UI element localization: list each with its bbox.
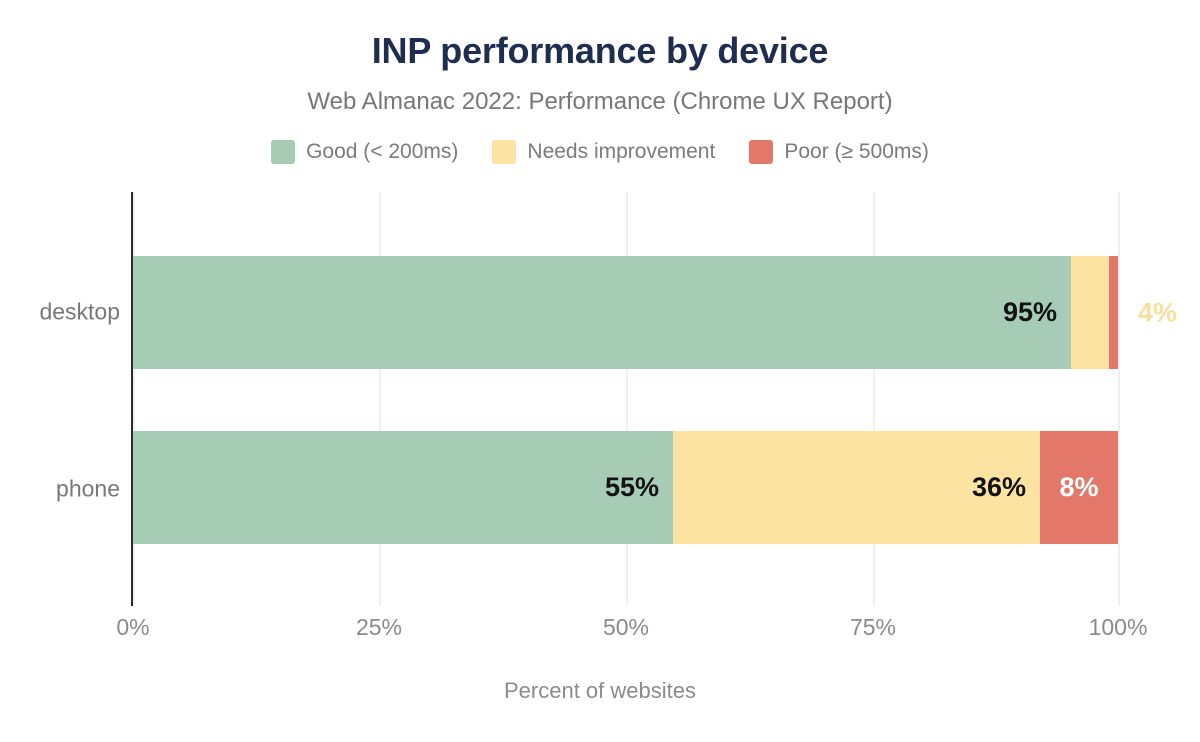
bar-label-desktop-needs-improvement: 4% xyxy=(1138,297,1177,328)
bar-segment-desktop-poor[interactable] xyxy=(1109,256,1118,369)
bar-segment-phone-good[interactable]: 55% xyxy=(133,431,673,544)
chart-subtitle: Web Almanac 2022: Performance (Chrome UX… xyxy=(0,88,1200,116)
bar-label-phone-poor: 8% xyxy=(1059,472,1098,503)
legend-label-poor: Poor (≥ 500ms) xyxy=(784,140,929,164)
chart-title: INP performance by device xyxy=(0,30,1200,72)
bar-label-phone-needs-improvement: 36% xyxy=(972,472,1040,503)
y-tick-label-desktop: desktop xyxy=(0,299,120,326)
legend-swatch-needs-improvement-icon xyxy=(492,140,516,164)
legend-item-needs-improvement[interactable]: Needs improvement xyxy=(492,140,715,164)
x-tick-label-100: 100% xyxy=(1089,614,1148,641)
x-tick-label-0: 0% xyxy=(116,614,149,641)
gridline-100 xyxy=(1118,192,1120,606)
bar-segment-desktop-good[interactable]: 95% xyxy=(133,256,1071,369)
bar-segment-phone-needs-improvement[interactable]: 36% xyxy=(673,431,1040,544)
legend-item-poor[interactable]: Poor (≥ 500ms) xyxy=(749,140,929,164)
x-tick-label-50: 50% xyxy=(603,614,649,641)
bar-label-desktop-good: 95% xyxy=(1003,297,1071,328)
y-tick-label-phone: phone xyxy=(0,476,120,503)
legend-label-needs-improvement: Needs improvement xyxy=(527,140,715,164)
legend-item-good[interactable]: Good (< 200ms) xyxy=(271,140,458,164)
chart-legend: Good (< 200ms) Needs improvement Poor (≥… xyxy=(0,140,1200,164)
legend-label-good: Good (< 200ms) xyxy=(306,140,458,164)
x-tick-label-75: 75% xyxy=(850,614,896,641)
bar-segment-desktop-needs-improvement[interactable] xyxy=(1071,256,1109,369)
bar-segment-phone-poor[interactable]: 8% xyxy=(1040,431,1118,544)
x-tick-label-25: 25% xyxy=(356,614,402,641)
bar-label-phone-good: 55% xyxy=(605,472,673,503)
legend-swatch-good-icon xyxy=(271,140,295,164)
plot-area: 95% 4% 55% 36% 8% xyxy=(133,192,1120,606)
x-axis-title: Percent of websites xyxy=(0,678,1200,704)
legend-swatch-poor-icon xyxy=(749,140,773,164)
